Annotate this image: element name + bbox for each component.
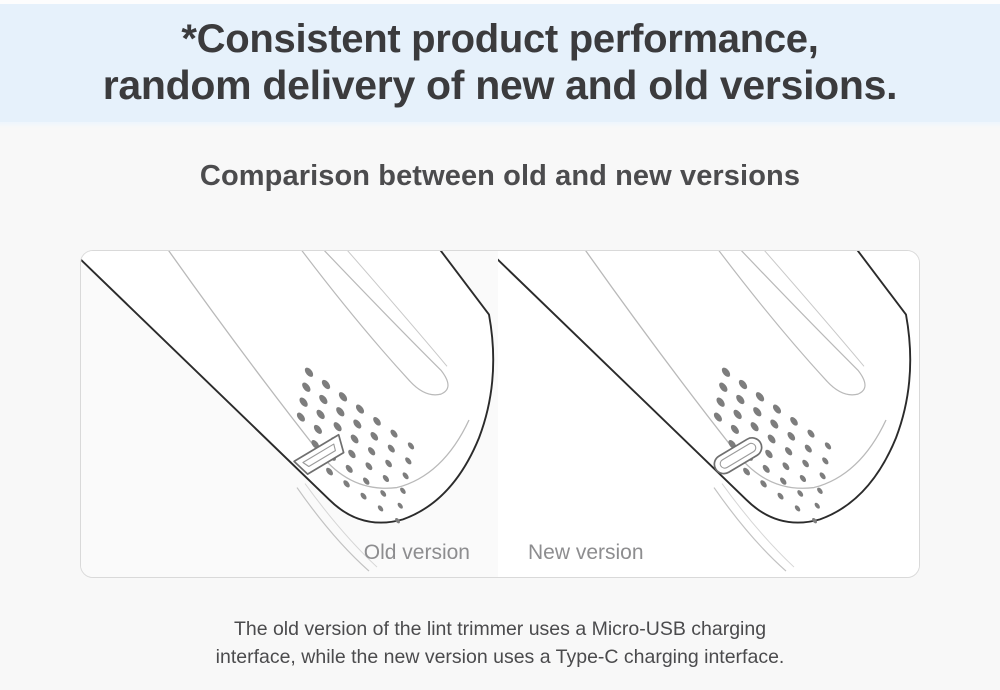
lint-trimmer-outline-icon	[498, 251, 920, 577]
footer-caption-line-1: The old version of the lint trimmer uses…	[0, 616, 1000, 644]
label-new-version: New version	[528, 541, 644, 565]
lint-trimmer-outline-icon	[81, 251, 498, 577]
headline-line-1: *Consistent product performance,	[181, 16, 818, 63]
headline-line-2: random delivery of new and old versions.	[103, 62, 898, 110]
comparison-half-new: New version	[498, 251, 920, 577]
label-old-version: Old version	[364, 541, 470, 565]
section-subtitle: Comparison between old and new versions	[0, 160, 1000, 193]
footer-caption-line-2: interface, while the new version uses a …	[0, 644, 1000, 672]
headline-banner: *Consistent product performance, random …	[0, 4, 1000, 122]
comparison-panel: Old version	[80, 250, 920, 578]
banner-fade-divider	[0, 122, 1000, 128]
comparison-half-old: Old version	[81, 251, 498, 577]
page-root: *Consistent product performance, random …	[0, 0, 1000, 690]
footer-caption: The old version of the lint trimmer uses…	[0, 616, 1000, 671]
